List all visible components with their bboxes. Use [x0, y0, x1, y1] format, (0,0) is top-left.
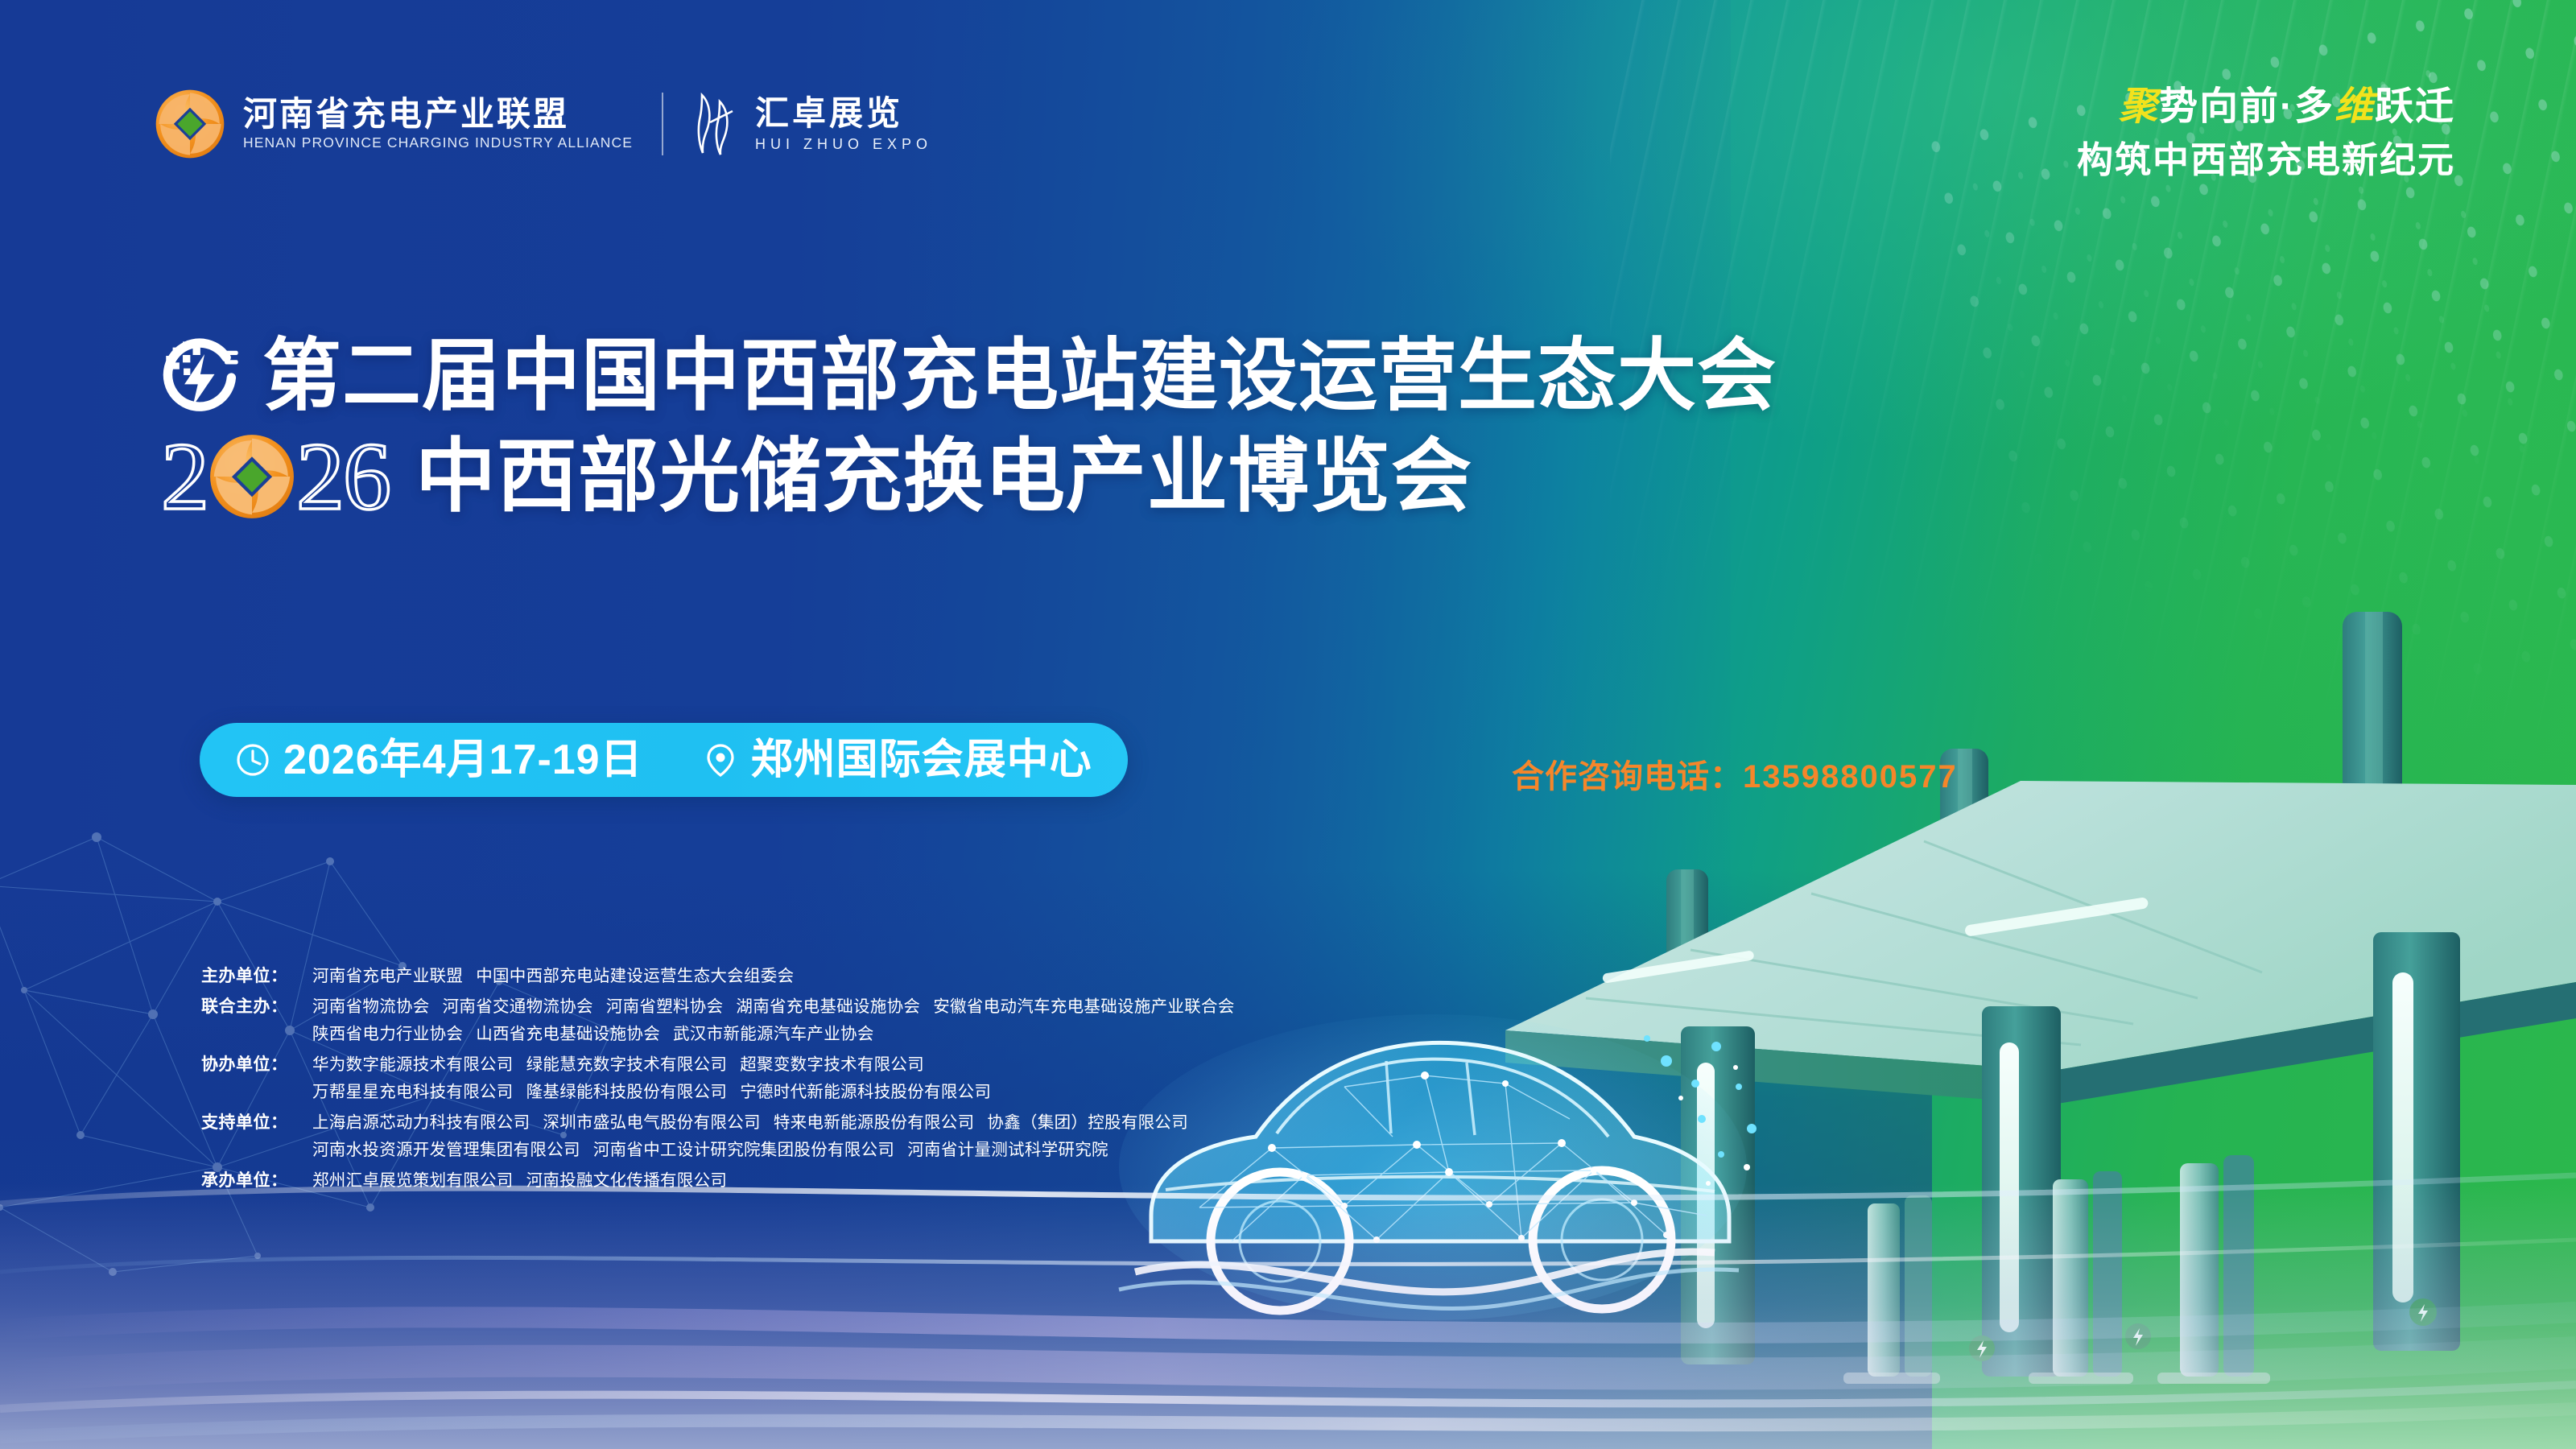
organizer-line: 河南水投资源开发管理集团有限公司河南省中工设计研究院集团股份有限公司河南省计量测… [312, 1137, 1618, 1164]
organizer-row: 支持单位：上海启源芯动力科技有限公司深圳市盛弘电气股份有限公司特来电新能源股份有… [201, 1109, 1618, 1164]
organizer-name: 万帮星星充电科技有限公司 [312, 1083, 514, 1101]
organizer-name: 河南投融文化传播有限公司 [526, 1171, 728, 1190]
organizer-values: 华为数字能源技术有限公司绿能慧充数字技术有限公司超聚变数字技术有限公司万帮星星充… [312, 1051, 1618, 1106]
organizer-name: 中国中西部充电站建设运营生态大会组委会 [476, 967, 794, 985]
organizer-line: 华为数字能源技术有限公司绿能慧充数字技术有限公司超聚变数字技术有限公司 [312, 1051, 1618, 1079]
organizer-values: 河南省充电产业联盟中国中西部充电站建设运营生态大会组委会 [312, 963, 1618, 990]
organizer-line: 河南省充电产业联盟中国中西部充电站建设运营生态大会组委会 [312, 963, 1618, 990]
huizhuo-mark-icon [692, 90, 742, 158]
date-item: 2026年4月17-19日 [235, 739, 643, 781]
event-date: 2026年4月17-19日 [283, 739, 643, 781]
slogan-line-2: 构筑中西部充电新纪元 [2077, 138, 2455, 181]
event-poster: 河南省充电产业联盟 HENAN PROVINCE CHARGING INDUST… [0, 0, 2576, 1449]
year-digit-1: 2 [161, 432, 208, 521]
organizer-row: 承办单位：郑州汇卓展览策划有限公司河南投融文化传播有限公司 [201, 1167, 1618, 1195]
contact-number: 13598800577 [1743, 759, 1958, 795]
page-title: 第二届中国中西部充电站建设运营生态大会 [262, 336, 1777, 416]
organizer-name: 武汉市新能源汽车产业协会 [673, 1025, 874, 1043]
organizer-name: 宁德时代新能源科技股份有限公司 [740, 1083, 991, 1101]
organizer-name: 绿能慧充数字技术有限公司 [526, 1055, 728, 1074]
date-venue-bar: 2026年4月17-19日 郑州国际会展中心 [200, 723, 1128, 797]
slogan-part-4: 跃迁 [2375, 85, 2455, 128]
organizer-line: 河南省物流协会河南省交通物流协会河南省塑料协会湖南省充电基础设施协会安徽省电动汽… [312, 993, 1618, 1021]
slogan-block: 聚势向前·多维跃迁 构筑中西部充电新纪元 [2077, 85, 2455, 181]
organizer-label: 联合主办： [201, 993, 312, 1021]
slogan-line-1: 聚势向前·多维跃迁 [2077, 85, 2455, 130]
title-row-primary: 第二届中国中西部充电站建设运营生态大会 [161, 334, 1777, 418]
organizer-values: 河南省物流协会河南省交通物流协会河南省塑料协会湖南省充电基础设施协会安徽省电动汽… [312, 993, 1618, 1048]
logo-divider [662, 93, 663, 155]
organizer-line: 万帮星星充电科技有限公司隆基绿能科技股份有限公司宁德时代新能源科技股份有限公司 [312, 1079, 1618, 1106]
year-swirl-logo-icon [204, 429, 299, 524]
organizer-name: 河南省充电产业联盟 [312, 967, 463, 985]
slogan-hl-2: 维 [2334, 85, 2375, 128]
organizer-name: 特来电新能源股份有限公司 [774, 1113, 975, 1132]
expo-name-cn: 汇卓展览 [755, 97, 932, 130]
organizer-list: 主办单位：河南省充电产业联盟中国中西部充电站建设运营生态大会组委会联合主办：河南… [201, 963, 1618, 1198]
clock-icon [235, 742, 270, 778]
organizer-values: 上海启源芯动力科技有限公司深圳市盛弘电气股份有限公司特来电新能源股份有限公司协鑫… [312, 1109, 1618, 1164]
alliance-logo-lockup[interactable]: 河南省充电产业联盟 HENAN PROVINCE CHARGING INDUST… [153, 87, 633, 161]
header-logos: 河南省充电产业联盟 HENAN PROVINCE CHARGING INDUST… [153, 87, 932, 161]
organizer-label: 支持单位： [201, 1109, 312, 1137]
page-subtitle: 中西部光储充换电产业博览会 [415, 436, 1472, 517]
organizer-label: 主办单位： [201, 963, 312, 990]
organizer-values: 郑州汇卓展览策划有限公司河南投融文化传播有限公司 [312, 1167, 1618, 1195]
organizer-row: 协办单位：华为数字能源技术有限公司绿能慧充数字技术有限公司超聚变数字技术有限公司… [201, 1051, 1618, 1106]
organizer-name: 隆基绿能科技股份有限公司 [526, 1083, 728, 1101]
ground-glow [0, 1183, 2576, 1449]
contact-label: 合作咨询电话： [1512, 759, 1743, 795]
year-digit-3: 2 [296, 432, 343, 521]
organizer-label: 协办单位： [201, 1051, 312, 1079]
slogan-part-2: 势向前·多 [2159, 85, 2334, 128]
organizer-row: 联合主办：河南省物流协会河南省交通物流协会河南省塑料协会湖南省充电基础设施协会安… [201, 993, 1618, 1048]
organizer-name: 河南省交通物流协会 [443, 997, 593, 1016]
organizer-name: 协鑫（集团）控股有限公司 [987, 1113, 1188, 1132]
organizer-line: 陕西省电力行业协会山西省充电基础设施协会武汉市新能源汽车产业协会 [312, 1021, 1618, 1048]
expo-name-en: HUI ZHUO EXPO [755, 137, 932, 151]
alliance-name-en: HENAN PROVINCE CHARGING INDUSTRY ALLIANC… [243, 136, 633, 151]
organizer-name: 上海启源芯动力科技有限公司 [312, 1113, 530, 1132]
expo-logo-lockup[interactable]: 汇卓展览 HUI ZHUO EXPO [692, 90, 932, 158]
organizer-name: 河南水投资源开发管理集团有限公司 [312, 1141, 580, 1159]
organizer-line: 上海启源芯动力科技有限公司深圳市盛弘电气股份有限公司特来电新能源股份有限公司协鑫… [312, 1109, 1618, 1137]
year-digit-4: 6 [343, 432, 390, 521]
organizer-name: 陕西省电力行业协会 [312, 1025, 463, 1043]
contact-phone[interactable]: 合作咨询电话：13598800577 [1512, 750, 1958, 797]
swirl-diamond-logo-icon [153, 87, 227, 161]
organizer-name: 河南省计量测试科学研究院 [907, 1141, 1108, 1159]
organizer-line: 郑州汇卓展览策划有限公司河南投融文化传播有限公司 [312, 1167, 1618, 1195]
slogan-hl-1: 聚 [2119, 85, 2159, 128]
title-row-secondary: 2 2 6 中西部光储充换电产业博览会 [161, 429, 1777, 524]
charging-bolt-ring-icon [161, 334, 245, 418]
title-block: 第二届中国中西部充电站建设运营生态大会 2 2 6 [161, 334, 1777, 524]
organizer-name: 山西省充电基础设施协会 [476, 1025, 660, 1043]
year-2026: 2 2 6 [161, 429, 390, 524]
event-venue: 郑州国际会展中心 [751, 739, 1092, 781]
organizer-name: 河南省塑料协会 [606, 997, 724, 1016]
organizer-name: 河南省中工设计研究院集团股份有限公司 [593, 1141, 894, 1159]
organizer-name: 河南省物流协会 [312, 997, 430, 1016]
organizer-label: 承办单位： [201, 1167, 312, 1195]
organizer-name: 安徽省电动汽车充电基础设施产业联合会 [933, 997, 1234, 1016]
organizer-row: 主办单位：河南省充电产业联盟中国中西部充电站建设运营生态大会组委会 [201, 963, 1618, 990]
organizer-name: 超聚变数字技术有限公司 [740, 1055, 924, 1074]
alliance-name-cn: 河南省充电产业联盟 [243, 97, 633, 131]
location-pin-icon [703, 742, 738, 778]
organizer-name: 深圳市盛弘电气股份有限公司 [543, 1113, 760, 1132]
organizer-name: 湖南省充电基础设施协会 [736, 997, 920, 1016]
organizer-name: 华为数字能源技术有限公司 [312, 1055, 514, 1074]
organizer-name: 郑州汇卓展览策划有限公司 [312, 1171, 514, 1190]
venue-item: 郑州国际会展中心 [703, 739, 1092, 781]
